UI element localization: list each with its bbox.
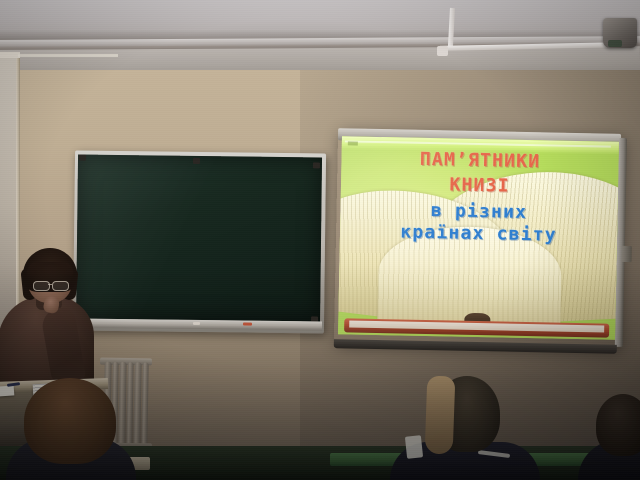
presentation-slide: ПАМ’ЯТНИКИ КНИЗІ в різних країнах світу	[338, 136, 619, 340]
chalkboard-sheen	[76, 155, 322, 322]
chalkboard	[73, 150, 326, 333]
chalkboard-clip	[193, 158, 200, 164]
glasses-bridge-icon	[48, 284, 52, 285]
projector-lens-icon	[608, 40, 622, 47]
slide-corner-badge	[348, 141, 358, 145]
door-top-rail	[18, 54, 118, 57]
glasses-icon	[33, 281, 50, 291]
projection-screen[interactable]: ПАМ’ЯТНИКИ КНИЗІ в різних країнах світу	[334, 128, 621, 347]
student-ponytail-hair	[425, 376, 456, 455]
slide-line-2: КНИЗІ	[341, 174, 618, 199]
glasses-icon	[52, 281, 69, 291]
slide-line-3: в різних	[340, 199, 617, 224]
radiator-fin	[118, 362, 126, 448]
screen-wall-bracket	[622, 246, 632, 262]
slide-text-block: ПАМ’ЯТНИКИ КНИЗІ в різних країнах світу	[340, 148, 619, 249]
paper-sheet-small	[0, 385, 14, 396]
chalk-white-icon	[193, 322, 200, 325]
chalkboard-clip	[79, 155, 86, 161]
teacher-bangs	[27, 262, 73, 277]
chalk-orange-icon	[243, 323, 252, 326]
student-head	[596, 394, 640, 456]
student-cuff	[405, 435, 423, 459]
classroom-scene: ПАМ’ЯТНИКИ КНИЗІ в різних країнах світу	[0, 0, 640, 480]
projector-mount-foot	[437, 46, 448, 56]
radiator-fin	[133, 362, 141, 448]
slide-line-1: ПАМ’ЯТНИКИ	[341, 148, 618, 173]
slide-line-4: країнах світу	[340, 222, 617, 247]
wall-corner-top	[0, 52, 20, 58]
chalkboard-clip	[313, 162, 320, 168]
student-head	[24, 378, 116, 464]
